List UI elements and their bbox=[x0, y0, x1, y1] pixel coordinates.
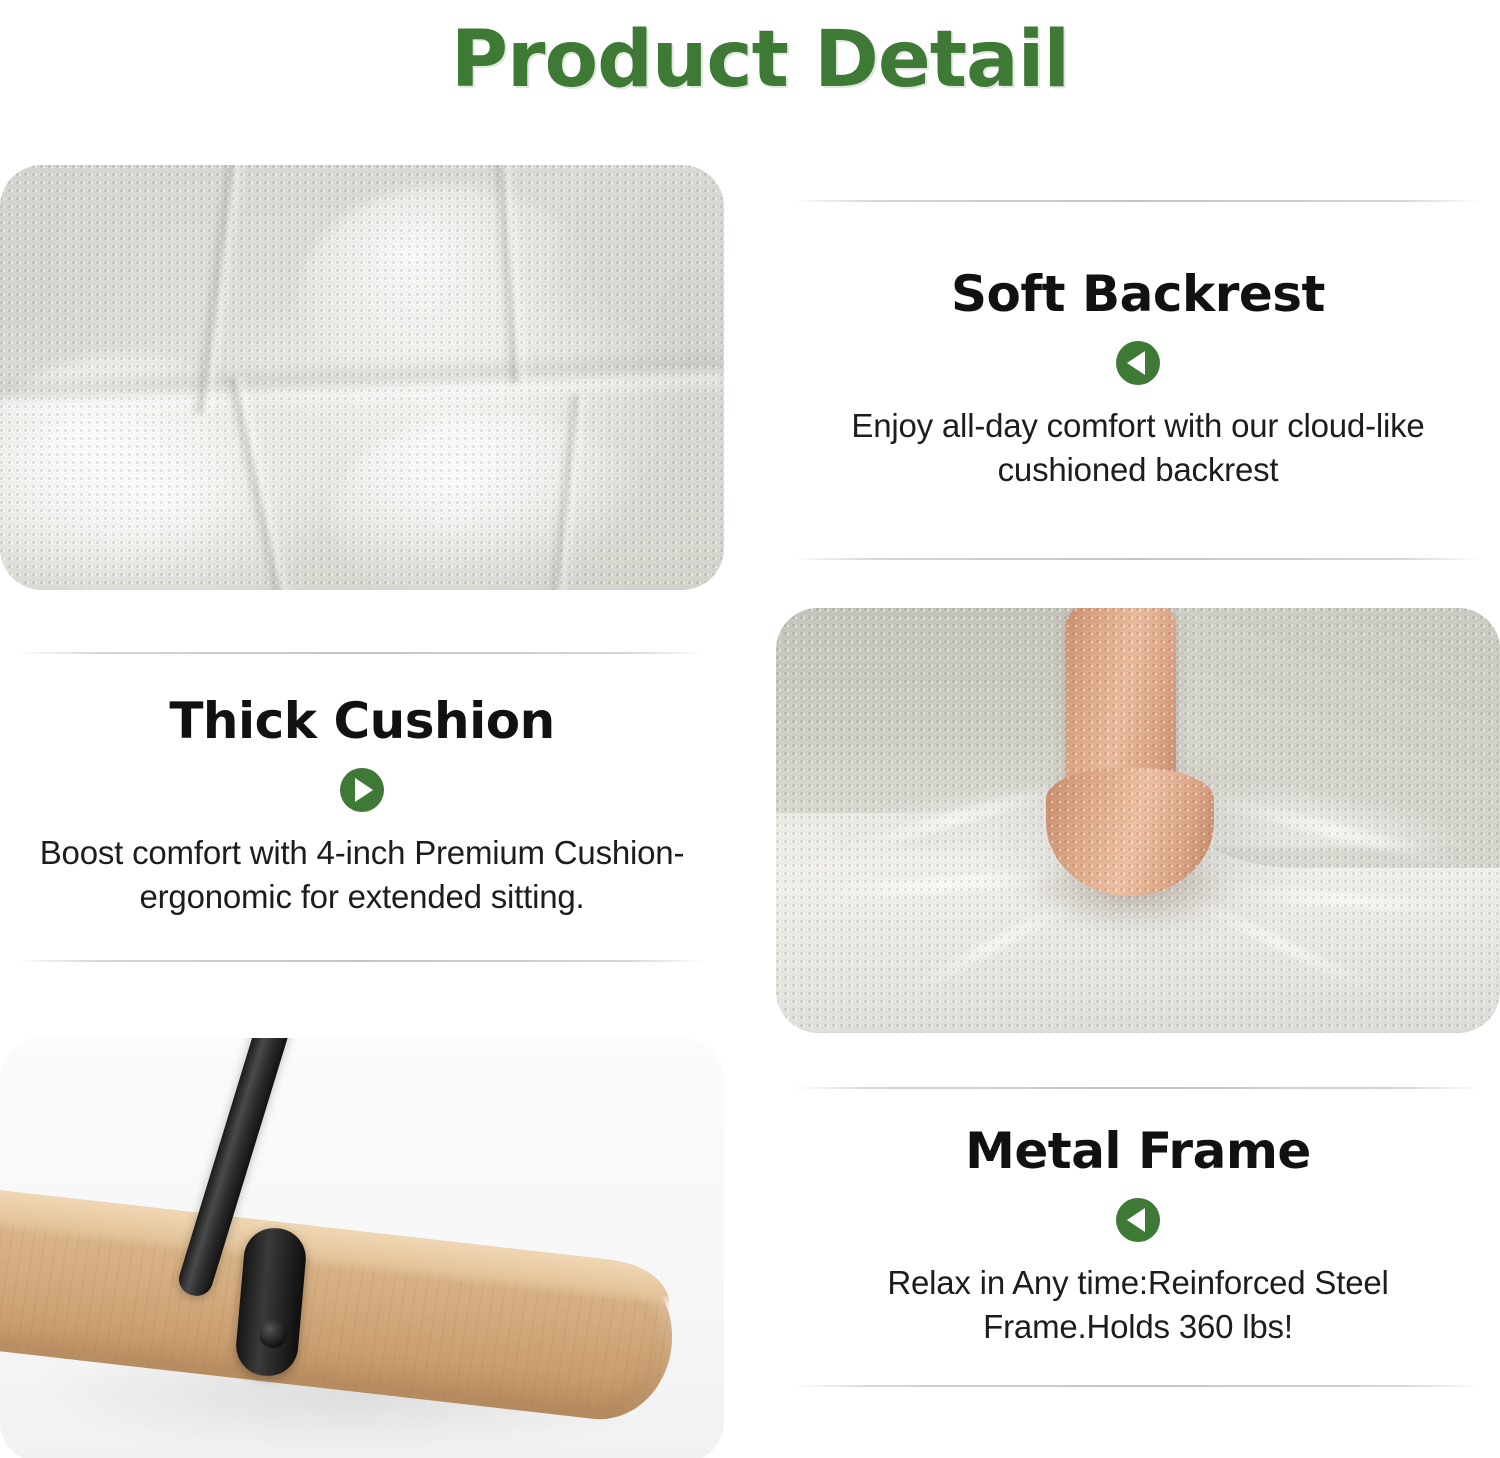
feature-description-soft-backrest: Enjoy all-day comfort with our cloud-lik… bbox=[793, 404, 1483, 492]
image-soft-backrest bbox=[0, 165, 724, 590]
product-detail-page: Product Detail Soft Backrest bbox=[0, 0, 1500, 1458]
image-thick-cushion bbox=[776, 608, 1500, 1033]
feature-block-thick-cushion: Thick Cushion Boost comfort with 4-inch … bbox=[0, 652, 724, 962]
feature-block-soft-backrest: Soft Backrest Enjoy all-day comfort with… bbox=[776, 200, 1500, 560]
feature-title-metal-frame: Metal Frame bbox=[965, 1125, 1311, 1178]
arrow-right-circle-icon bbox=[339, 767, 385, 813]
divider-bottom bbox=[793, 1385, 1483, 1387]
arrow-left-circle-icon bbox=[1115, 340, 1161, 386]
feature-description-metal-frame: Relax in Any time:Reinforced Steel Frame… bbox=[793, 1261, 1483, 1349]
image-metal-frame bbox=[0, 1038, 724, 1458]
divider-bottom bbox=[17, 960, 707, 962]
feature-content: Thick Cushion Boost comfort with 4-inch … bbox=[0, 654, 724, 960]
page-title-container: Product Detail bbox=[0, 0, 1500, 120]
knit-highlight-overlay bbox=[776, 608, 1500, 1033]
feature-content: Metal Frame Relax in Any time:Reinforced… bbox=[776, 1089, 1500, 1385]
knit-highlight-overlay bbox=[0, 165, 724, 590]
feature-title-thick-cushion: Thick Cushion bbox=[169, 695, 554, 748]
feature-title-soft-backrest: Soft Backrest bbox=[951, 268, 1325, 321]
feature-content: Soft Backrest Enjoy all-day comfort with… bbox=[776, 202, 1500, 558]
feature-grid: Soft Backrest Enjoy all-day comfort with… bbox=[0, 120, 1500, 1458]
page-title: Product Detail bbox=[451, 21, 1069, 99]
arrow-left-circle-icon bbox=[1115, 1197, 1161, 1243]
divider-bottom bbox=[793, 558, 1483, 560]
feature-description-thick-cushion: Boost comfort with 4-inch Premium Cushio… bbox=[17, 831, 707, 919]
feature-block-metal-frame: Metal Frame Relax in Any time:Reinforced… bbox=[776, 1087, 1500, 1387]
